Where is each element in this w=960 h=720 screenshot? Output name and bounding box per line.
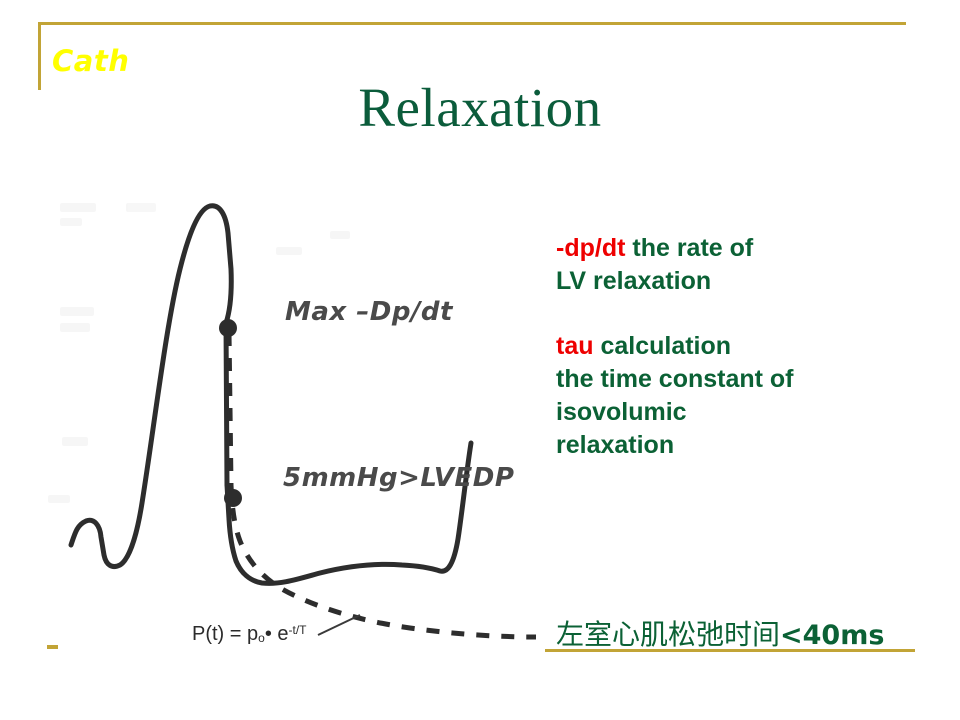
pressure-curve-svg [30, 185, 550, 665]
max-dpdt-marker-dot [219, 319, 237, 337]
bullet-dpdt-line2: LV relaxation [556, 265, 948, 298]
page-title: Relaxation [0, 76, 960, 139]
bullet-tau-accent: tau [556, 332, 594, 360]
bullet-tau-line4: relaxation [556, 429, 948, 462]
lv-pressure-tracing-figure [30, 185, 550, 665]
scan-artifacts [48, 203, 350, 503]
bullet-dpdt-line1: -dp/dt the rate of [556, 232, 948, 265]
slide-canvas: Cath Relaxation [0, 0, 960, 720]
formula-exp: -t/T [289, 623, 307, 637]
stray-gold-dash [47, 645, 58, 649]
cath-corner-label: Cath [52, 44, 129, 78]
body-text-column: -dp/dt the rate of LV relaxation tau cal… [556, 232, 948, 462]
bullet-tau-line1: tau calculation [556, 330, 948, 363]
bullet-tau-line2: the time constant of [556, 363, 948, 396]
pressure-waveform-solid [71, 206, 231, 567]
bullet-tau-line3: isovolumic [556, 396, 948, 429]
formula-lead: P [192, 623, 205, 645]
annotation-max-dpdt: Max –Dp/dt [285, 297, 453, 327]
bullet-dpdt: -dp/dt the rate of LV relaxation [556, 232, 948, 298]
pressure-waveform-plateau [226, 323, 227, 485]
annotation-5mmhg-lvedp: 5mmHg>LVEDP [283, 463, 514, 493]
formula-sub: o [258, 631, 265, 645]
formula-arg: (t) = p [205, 623, 258, 645]
bullet-dpdt-rest: the rate of [625, 234, 753, 262]
bullet-dpdt-accent: -dp/dt [556, 234, 625, 262]
tau-formula: P(t) = po• e-t/T [192, 623, 307, 646]
formula-leader-line [318, 615, 360, 635]
bullet-tau-rest: calculation [594, 332, 732, 360]
footer-chinese-text: 左室心肌松弛时间 [556, 618, 780, 651]
header-top-rule [38, 22, 906, 25]
lvedp-marker-dot [224, 489, 242, 507]
formula-mid: • e [265, 623, 289, 645]
footer-chinese-value: <40ms [780, 620, 884, 651]
footer-chinese-line: 左室心肌松弛时间<40ms [556, 613, 884, 653]
footer-underline-rule [545, 649, 915, 652]
bullet-tau: tau calculation the time constant of iso… [556, 330, 948, 462]
